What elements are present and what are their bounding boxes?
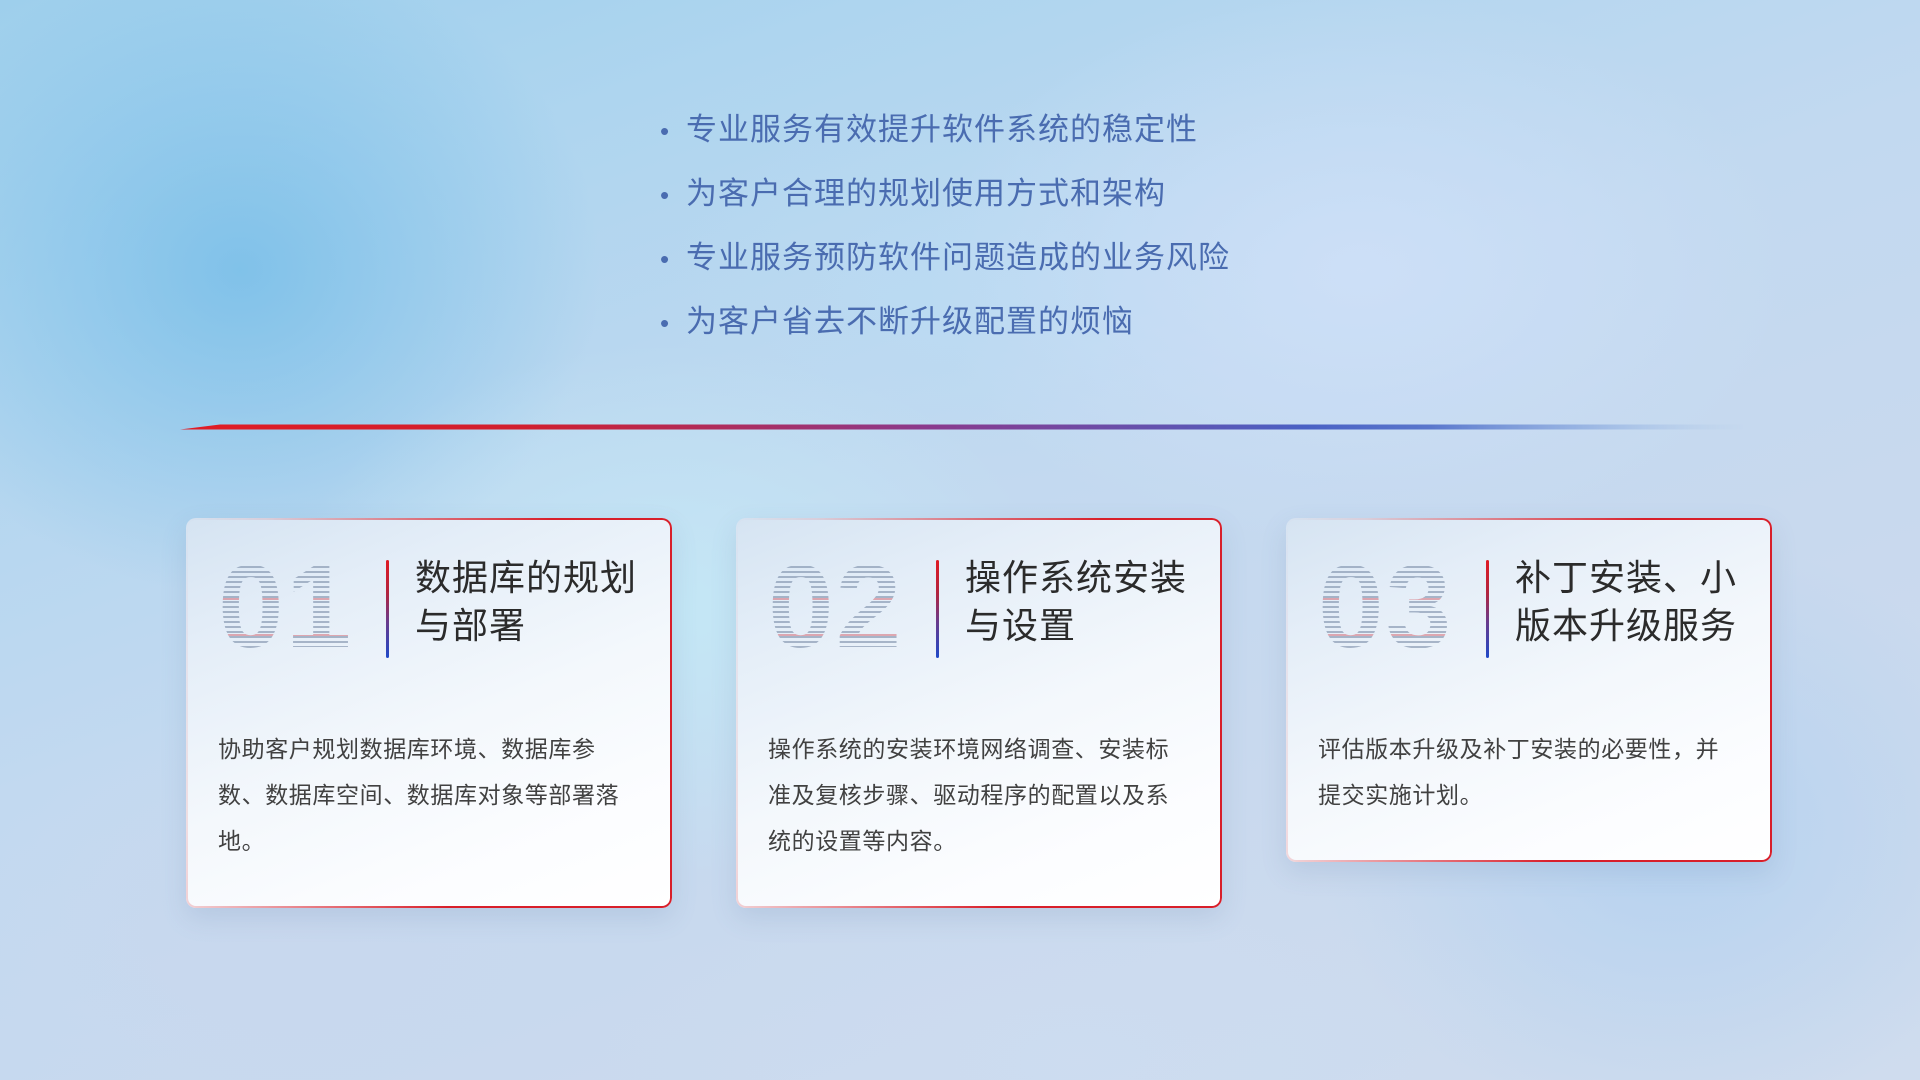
- service-card-03[interactable]: 03 03 补丁安装、小版本升级服务 评估版本升级及补丁安装的必要性，并提交实施…: [1286, 518, 1772, 862]
- card-number-text-tint: 02: [768, 546, 936, 668]
- card-gradient-rule: [386, 560, 389, 658]
- card-number-text-tint: 03: [1318, 546, 1486, 668]
- card-number-striped: 01 01: [218, 546, 386, 668]
- bullet-text: 专业服务有效提升软件系统的稳定性: [686, 104, 1198, 149]
- slide-root: • 专业服务有效提升软件系统的稳定性 • 为客户合理的规划使用方式和架构 • 专…: [0, 0, 1920, 1080]
- card-header: 02 02 操作系统安装与设置: [768, 552, 1190, 680]
- list-item: • 为客户合理的规划使用方式和架构: [660, 168, 1560, 232]
- card-gradient-rule: [936, 560, 939, 658]
- card-body-text: 操作系统的安装环境网络调查、安装标准及复核步骤、驱动程序的配置以及系统的设置等内…: [768, 726, 1190, 864]
- card-number-striped: 03 03: [1318, 546, 1486, 668]
- card-number-text-tint: 01: [218, 546, 386, 668]
- bullet-text: 为客户省去不断升级配置的烦恼: [686, 296, 1134, 341]
- bullet-dot-icon: •: [660, 246, 686, 272]
- card-header: 01 01 数据库的规划与部署: [218, 552, 640, 680]
- card-title: 补丁安装、小版本升级服务: [1515, 552, 1740, 649]
- card-body-text: 协助客户规划数据库环境、数据库参数、数据库空间、数据库对象等部署落地。: [218, 726, 640, 864]
- bullet-dot-icon: •: [660, 182, 686, 208]
- list-item: • 专业服务有效提升软件系统的稳定性: [660, 104, 1560, 168]
- card-header: 03 03 补丁安装、小版本升级服务: [1318, 552, 1740, 680]
- bullet-dot-icon: •: [660, 118, 686, 144]
- card-body-text: 评估版本升级及补丁安装的必要性，并提交实施计划。: [1318, 726, 1740, 818]
- card-group: 01 01 数据库的规划与部署 协助客户规划数据库环境、数据库参数、数据库空间、…: [186, 518, 1776, 908]
- section-divider: [180, 418, 1745, 436]
- list-item: • 专业服务预防软件问题造成的业务风险: [660, 232, 1560, 296]
- list-item: • 为客户省去不断升级配置的烦恼: [660, 296, 1560, 360]
- service-card-01[interactable]: 01 01 数据库的规划与部署 协助客户规划数据库环境、数据库参数、数据库空间、…: [186, 518, 672, 908]
- bullet-text: 为客户合理的规划使用方式和架构: [686, 168, 1166, 213]
- bullet-list: • 专业服务有效提升软件系统的稳定性 • 为客户合理的规划使用方式和架构 • 专…: [660, 104, 1560, 360]
- bullet-dot-icon: •: [660, 310, 686, 336]
- bullet-text: 专业服务预防软件问题造成的业务风险: [686, 232, 1230, 277]
- card-number-striped: 02 02: [768, 546, 936, 668]
- service-card-02[interactable]: 02 02 操作系统安装与设置 操作系统的安装环境网络调查、安装标准及复核步骤、…: [736, 518, 1222, 908]
- card-title: 数据库的规划与部署: [415, 552, 640, 649]
- card-title: 操作系统安装与设置: [965, 552, 1190, 649]
- card-gradient-rule: [1486, 560, 1489, 658]
